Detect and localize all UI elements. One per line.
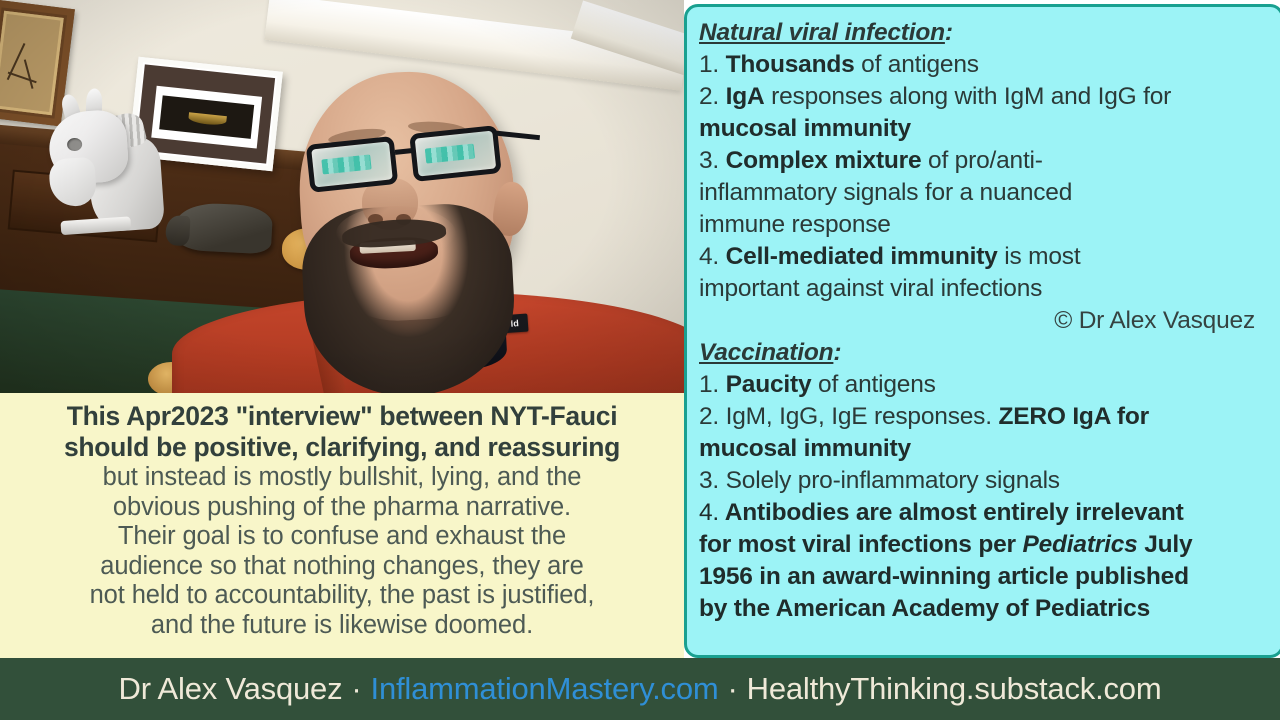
horse-muzzle xyxy=(48,157,97,208)
picture-image xyxy=(159,95,254,138)
slide-root: trangoworld xyxy=(0,0,1280,720)
item4-rest: is most xyxy=(998,243,1081,270)
boat-shape xyxy=(188,112,227,126)
item3-bold: Complex mixture xyxy=(726,147,922,174)
v-item1-number: 1. xyxy=(699,371,719,398)
footer-bar: Dr Alex Vasquez · InflammationMastery.co… xyxy=(0,658,1280,720)
section2-item-4-line3: 1956 in an award-winning article publish… xyxy=(699,561,1269,593)
item3-rest: of pro/anti- xyxy=(921,147,1042,174)
v-item3-number: 3. xyxy=(699,467,719,494)
section2-item-2: 2. IgM, IgG, IgE responses. ZERO IgA for xyxy=(699,401,1269,433)
section2-item-4-line1: 4. Antibodies are almost entirely irrele… xyxy=(699,497,1269,529)
item4-bold: Cell-mediated immunity xyxy=(726,243,998,270)
v-item4-line1: Antibodies are almost entirely irrelevan… xyxy=(725,499,1184,526)
caption-line-7: not held to accountability, the past is … xyxy=(90,581,595,611)
caption-body-text: but instead is mostly bullshit, lying, a… xyxy=(90,463,595,640)
v-item4-line2-a: for most viral infections per xyxy=(699,531,1022,558)
item1-number: 1. xyxy=(699,51,719,78)
v-item4-number: 4. xyxy=(699,499,719,526)
v-item3-rest: Solely pro-inflammatory signals xyxy=(719,467,1060,494)
caption-line-8: and the future is likewise doomed. xyxy=(90,611,595,641)
section1-item-4: 4. Cell-mediated immunity is most xyxy=(699,241,1269,273)
caption-line-4: obvious pushing of the pharma narrative. xyxy=(90,493,595,523)
v-item4-line2-b: July xyxy=(1138,531,1193,558)
caption-line-5: Their goal is to confuse and exhaust the xyxy=(90,522,595,552)
lens-reflection-left xyxy=(322,154,372,174)
section1-item-3-cont-a: inflammatory signals for a nuanced xyxy=(699,177,1269,209)
item2-rest: responses along with IgM and IgG for xyxy=(765,83,1172,110)
info-panel: Natural viral infection: 1. Thousands of… xyxy=(684,4,1280,658)
section2-item-2-cont: mucosal immunity xyxy=(699,433,1269,465)
footer-author-name: Dr Alex Vasquez xyxy=(119,671,343,707)
copyright-notice: © Dr Alex Vasquez xyxy=(699,305,1269,337)
section1-item-1: 1. Thousands of antigens xyxy=(699,49,1269,81)
item2-bold: IgA xyxy=(726,83,765,110)
item3-number: 3. xyxy=(699,147,719,174)
section1-item-2: 2. IgA responses along with IgM and IgG … xyxy=(699,81,1269,113)
caption-line-6: audience so that nothing changes, they a… xyxy=(90,552,595,582)
v-item2-pre: IgM, IgG, IgE responses. xyxy=(719,403,998,430)
picture-inner-mat xyxy=(151,86,262,149)
section2-item-1: 1. Paucity of antigens xyxy=(699,369,1269,401)
section2-item-4-line4: by the American Academy of Pediatrics xyxy=(699,593,1269,625)
caption-bold-line-2: should be positive, clarifying, and reas… xyxy=(64,432,620,463)
section-heading-vaccination: Vaccination: xyxy=(699,337,1269,369)
section-heading-natural-viral-infection: Natural viral infection: xyxy=(699,17,1269,49)
eyeglass-lens-right xyxy=(409,125,502,182)
footer-link-healthythinking[interactable]: HealthyThinking.substack.com xyxy=(747,671,1162,707)
item2-number: 2. xyxy=(699,83,719,110)
footer-separator-2: · xyxy=(719,671,747,707)
item1-bold: Thousands xyxy=(726,51,855,78)
footer-link-inflammationmastery[interactable]: InflammationMastery.com xyxy=(371,671,719,707)
white-horse-statue xyxy=(39,82,168,230)
section2-heading-text: Vaccination xyxy=(699,339,833,366)
v-item2-bold: ZERO IgA for xyxy=(998,403,1149,430)
eyeglass-lens-left xyxy=(306,136,399,193)
v-item2-cont-bold: mucosal immunity xyxy=(699,435,911,462)
section1-heading-colon: : xyxy=(945,19,953,46)
section2-item-3: 3. Solely pro-inflammatory signals xyxy=(699,465,1269,497)
v-item1-bold: Paucity xyxy=(726,371,812,398)
v-item1-rest: of antigens xyxy=(811,371,935,398)
section1-item-2-cont: mucosal immunity xyxy=(699,113,1269,145)
eyeglass-temple-arm xyxy=(496,131,540,141)
caption-bold-line-1: This Apr2023 "interview" between NYT-Fau… xyxy=(67,401,618,432)
section1-item-3-cont-b: immune response xyxy=(699,209,1269,241)
section2-heading-colon: : xyxy=(833,339,841,366)
item4-number: 4. xyxy=(699,243,719,270)
lens-reflection-right xyxy=(425,143,475,163)
caption-line-3: but instead is mostly bullshit, lying, a… xyxy=(90,463,595,493)
speaker-person: trangoworld xyxy=(258,56,588,393)
section1-heading-text: Natural viral infection xyxy=(699,19,945,46)
section1-item-3: 3. Complex mixture of pro/anti- xyxy=(699,145,1269,177)
footer-separator-1: · xyxy=(342,671,370,707)
section2-item-4-line2: for most viral infections per Pediatrics… xyxy=(699,529,1269,561)
v-item4-journal-name: Pediatrics xyxy=(1022,531,1137,558)
v-item2-number: 2. xyxy=(699,403,719,430)
item2-cont-bold: mucosal immunity xyxy=(699,115,911,142)
webcam-video-region[interactable]: trangoworld xyxy=(0,0,684,393)
item1-rest: of antigens xyxy=(855,51,979,78)
section1-item-4-cont: important against viral infections xyxy=(699,273,1269,305)
caption-panel: This Apr2023 "interview" between NYT-Fau… xyxy=(0,393,684,660)
